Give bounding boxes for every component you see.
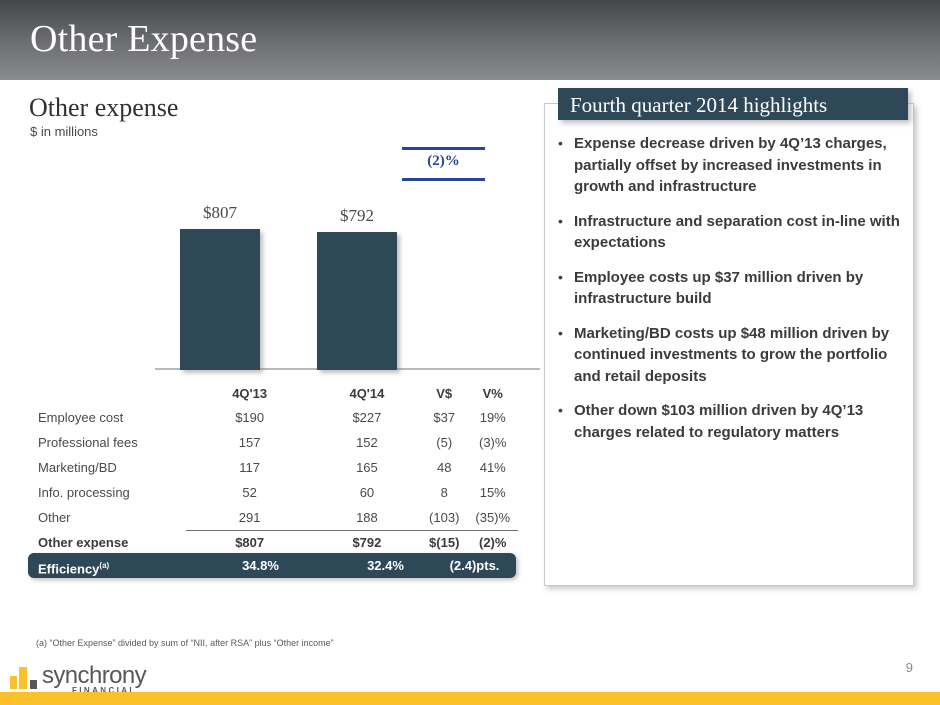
total-4q14: $792	[313, 530, 421, 555]
page-title: Other Expense	[30, 17, 257, 61]
table-row: Info. processing 52 60 8 15%	[28, 480, 518, 505]
row-vpercent: 15%	[467, 480, 518, 505]
bar-chart: $807 $792	[150, 190, 540, 380]
col-head-label	[28, 381, 186, 405]
bullet-dot-icon: •	[556, 400, 574, 443]
list-item-text: Employee costs up $37 million driven by …	[574, 267, 906, 310]
table-row: Other 291 188 (103) (35)%	[28, 505, 518, 530]
row-vpercent: (35)%	[467, 505, 518, 530]
list-item: • Expense decrease driven by 4Q’13 charg…	[556, 133, 906, 198]
callout-rule-top	[402, 147, 485, 150]
col-head-4q14: 4Q'14	[313, 381, 421, 405]
table-row: Marketing/BD 117 165 48 41%	[28, 455, 518, 480]
highlights-panel-header: Fourth quarter 2014 highlights	[558, 88, 908, 120]
row-label: Info. processing	[28, 480, 186, 505]
slide: Other Expense Other expense $ in million…	[0, 0, 940, 705]
row-4q14: 165	[313, 455, 421, 480]
row-vpercent: 41%	[467, 455, 518, 480]
bar-group-0: $807	[180, 229, 260, 370]
row-label: Marketing/BD	[28, 455, 186, 480]
col-head-vdollar: V$	[421, 381, 467, 405]
row-4q13: 117	[186, 455, 312, 480]
row-4q14: $227	[313, 405, 421, 430]
row-4q13: 52	[186, 480, 312, 505]
col-head-vpercent: V%	[467, 381, 518, 405]
efficiency-variance: (2.4)pts.	[443, 553, 506, 578]
bullet-dot-icon: •	[556, 133, 574, 198]
row-4q14: 60	[313, 480, 421, 505]
table-total-row: Other expense $807 $792 $(15) (2)%	[28, 530, 518, 555]
col-head-4q13: 4Q'13	[186, 381, 312, 405]
list-item: • Infrastructure and separation cost in-…	[556, 211, 906, 254]
list-item-text: Expense decrease driven by 4Q’13 charges…	[574, 133, 906, 198]
row-vdollar: (103)	[421, 505, 467, 530]
row-4q13: 291	[186, 505, 312, 530]
table-header-row: 4Q'13 4Q'14 V$ V%	[28, 381, 518, 405]
bar-1	[317, 232, 397, 370]
row-vdollar: $37	[421, 405, 467, 430]
efficiency-label-text: Efficiency	[38, 561, 99, 576]
efficiency-row: Efficiency(a) 34.8% 32.4% (2.4)pts.	[28, 553, 516, 578]
logo-bar-2	[19, 667, 27, 689]
logo-bar-3	[30, 680, 37, 689]
expense-table: 4Q'13 4Q'14 V$ V% Employee cost $190 $22…	[28, 381, 518, 555]
bar-value-label-0: $807	[203, 203, 237, 223]
row-label: Professional fees	[28, 430, 186, 455]
callout-value: (2)%	[402, 153, 485, 170]
list-item: • Other down $103 million driven by 4Q’1…	[556, 400, 906, 443]
bullet-dot-icon: •	[556, 323, 574, 388]
efficiency-label: Efficiency(a)	[38, 553, 109, 578]
title-banner: Other Expense	[0, 0, 940, 80]
total-vpercent: (2)%	[467, 530, 518, 555]
row-vpercent: (3)%	[467, 430, 518, 455]
table-row: Professional fees 157 152 (5) (3)%	[28, 430, 518, 455]
bar-group-1: $792	[317, 232, 397, 370]
list-item: • Employee costs up $37 million driven b…	[556, 267, 906, 310]
footer-accent-bar	[0, 692, 940, 705]
row-4q13: 157	[186, 430, 312, 455]
callout-rule-bottom	[402, 178, 485, 181]
total-label: Other expense	[28, 530, 186, 555]
row-4q13: $190	[186, 405, 312, 430]
bullet-dot-icon: •	[556, 267, 574, 310]
row-4q14: 152	[313, 430, 421, 455]
variance-callout: (2)%	[402, 147, 485, 181]
total-4q13: $807	[186, 530, 312, 555]
list-item-text: Other down $103 million driven by 4Q’13 …	[574, 400, 906, 443]
efficiency-footnote-marker: (a)	[99, 561, 109, 570]
bar-0	[180, 229, 260, 370]
table-row: Employee cost $190 $227 $37 19%	[28, 405, 518, 430]
logo-bars-icon	[10, 667, 40, 689]
list-item-text: Infrastructure and separation cost in-li…	[574, 211, 906, 254]
bullet-dot-icon: •	[556, 211, 574, 254]
row-4q14: 188	[313, 505, 421, 530]
row-label: Employee cost	[28, 405, 186, 430]
row-vdollar: (5)	[421, 430, 467, 455]
list-item-text: Marketing/BD costs up $48 million driven…	[574, 323, 906, 388]
efficiency-4q14: 32.4%	[328, 553, 443, 578]
efficiency-4q13: 34.8%	[193, 553, 328, 578]
row-vdollar: 48	[421, 455, 467, 480]
row-label: Other	[28, 505, 186, 530]
section-title: Other expense	[29, 93, 178, 123]
logo-bar-1	[10, 676, 17, 689]
page-number: 9	[906, 660, 913, 675]
list-item: • Marketing/BD costs up $48 million driv…	[556, 323, 906, 388]
row-vpercent: 19%	[467, 405, 518, 430]
bar-value-label-1: $792	[340, 206, 374, 226]
footnote: (a) “Other Expense” divided by sum of “N…	[36, 638, 334, 648]
highlights-bullet-list: • Expense decrease driven by 4Q’13 charg…	[556, 133, 906, 456]
row-vdollar: 8	[421, 480, 467, 505]
total-vdollar: $(15)	[421, 530, 467, 555]
highlights-panel-header-text: Fourth quarter 2014 highlights	[558, 88, 908, 120]
section-subtitle: $ in millions	[30, 124, 98, 139]
